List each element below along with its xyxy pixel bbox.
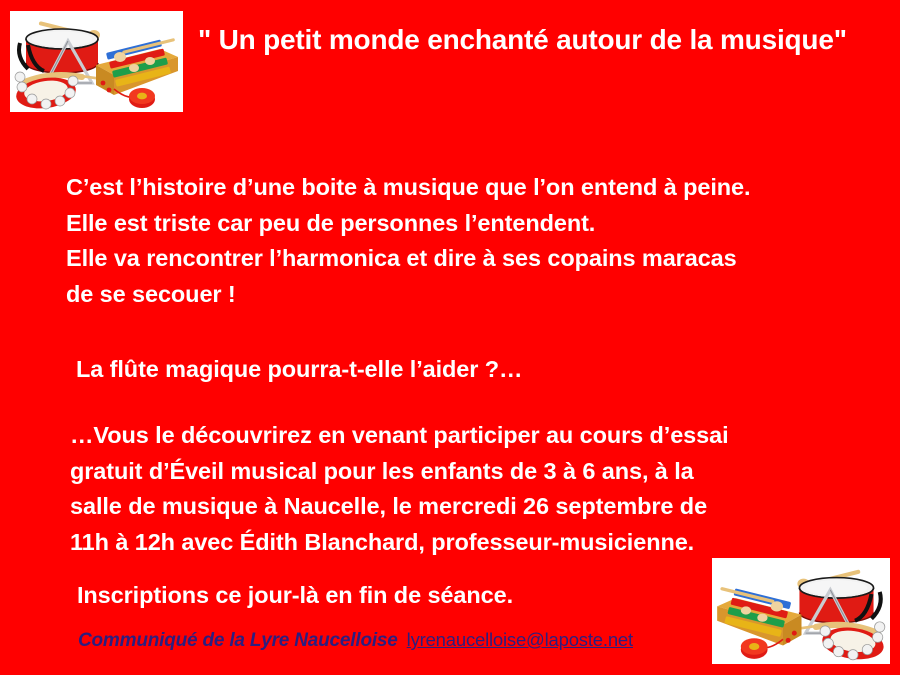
details-line-4: 11h à 12h avec Édith Blanchard, professe… bbox=[70, 525, 729, 561]
organization-name: Communiqué de la Lyre Naucelloise bbox=[78, 630, 398, 652]
drum-icon bbox=[19, 29, 98, 73]
musical-instruments-illustration bbox=[10, 11, 183, 112]
signup-note: Inscriptions ce jour-là en fin de séance… bbox=[77, 578, 513, 614]
question-text: La flûte magique pourra-t-elle l’aider ?… bbox=[76, 352, 522, 388]
contact-email-link[interactable]: lyrenaucelloise@laposte.net bbox=[407, 629, 633, 651]
details-line-1: …Vous le découvrirez en venant participe… bbox=[70, 418, 729, 454]
instruments-photo-top-left bbox=[10, 11, 183, 112]
details-paragraph: …Vous le découvrirez en venant participe… bbox=[70, 418, 729, 560]
poster-root: " Un petit monde enchanté autour de la m… bbox=[0, 0, 900, 675]
story-paragraph: C’est l’histoire d’une boite à musique q… bbox=[66, 170, 750, 312]
drum-icon bbox=[799, 578, 880, 623]
page-title: " Un petit monde enchanté autour de la m… bbox=[198, 23, 888, 57]
story-line-1: C’est l’histoire d’une boite à musique q… bbox=[66, 170, 750, 206]
question-line: La flûte magique pourra-t-elle l’aider ?… bbox=[76, 352, 522, 388]
story-line-2: Elle est triste car peu de personnes l’e… bbox=[66, 206, 750, 242]
instruments-photo-bottom-right bbox=[712, 558, 890, 664]
signup-text: Inscriptions ce jour-là en fin de séance… bbox=[77, 578, 513, 614]
details-line-2: gratuit d’Éveil musical pour les enfants… bbox=[70, 454, 729, 490]
musical-instruments-illustration-mirrored bbox=[712, 558, 890, 664]
footer: Communiqué de la Lyre Naucelloise lyrena… bbox=[78, 629, 633, 652]
details-line-3: salle de musique à Naucelle, le mercredi… bbox=[70, 489, 729, 525]
story-line-4: de se secouer ! bbox=[66, 277, 750, 313]
story-line-3: Elle va rencontrer l’harmonica et dire à… bbox=[66, 241, 750, 277]
